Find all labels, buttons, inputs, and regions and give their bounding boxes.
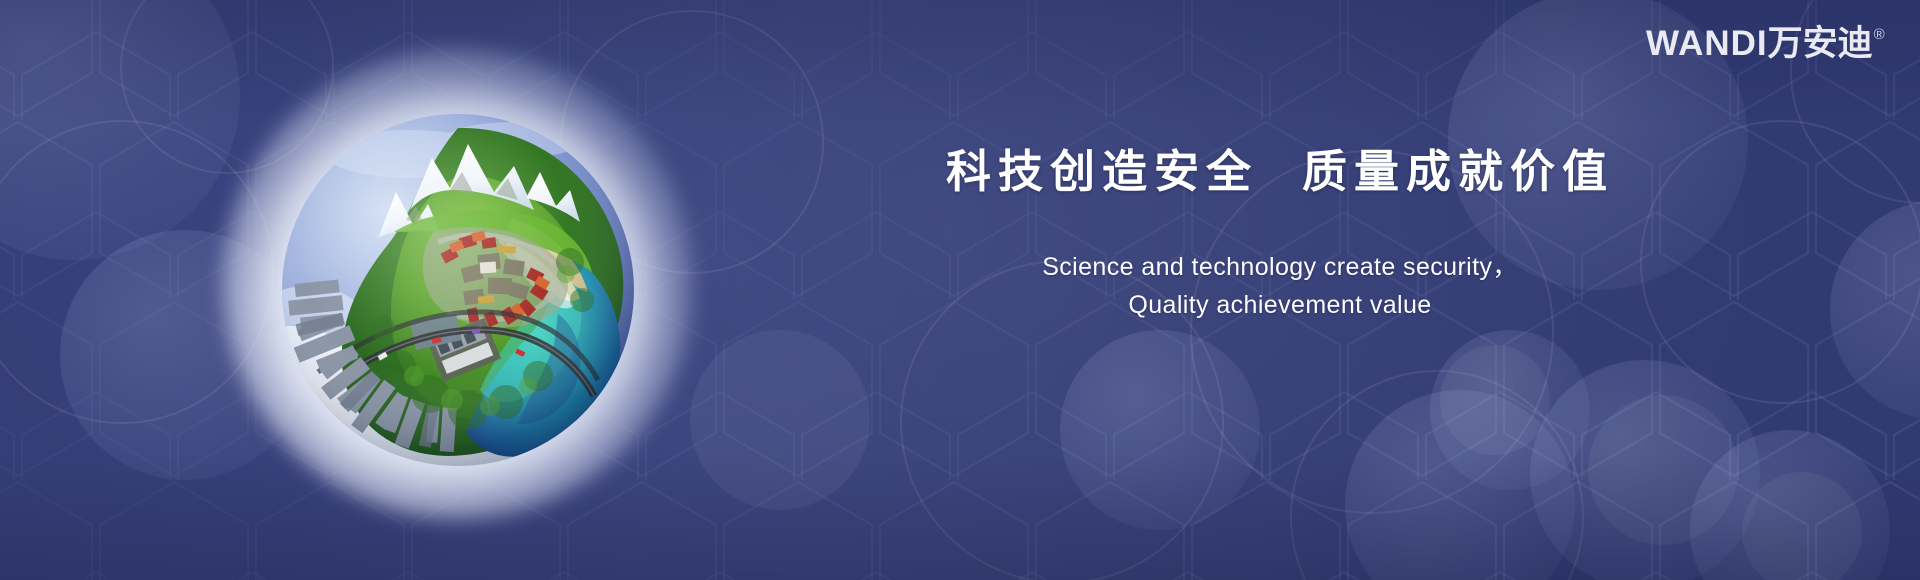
headline-phrase-1: 科技创造安全	[946, 146, 1258, 197]
subtitle-slogan: Science and technology create security， …	[780, 248, 1780, 324]
registered-trademark-icon: ®	[1874, 27, 1886, 42]
logo-latin-text: WANDI	[1646, 26, 1768, 61]
headline-phrase-2: 质量成就价值	[1302, 146, 1614, 197]
logo-chinese-text: 万安迪	[1768, 26, 1873, 61]
subtitle-line-2: Quality achievement value	[780, 286, 1780, 324]
tiny-planet-globe	[282, 114, 634, 466]
hero-banner: WANDI 万安迪 ® 科技创造安全质量成就价值 Science and tec…	[0, 0, 1920, 580]
subtitle-line-1: Science and technology create security，	[780, 248, 1780, 286]
globe-illustration	[208, 34, 708, 534]
headline-slogan: 科技创造安全质量成就价值	[780, 135, 1780, 200]
company-logo[interactable]: WANDI 万安迪 ®	[1646, 26, 1885, 61]
